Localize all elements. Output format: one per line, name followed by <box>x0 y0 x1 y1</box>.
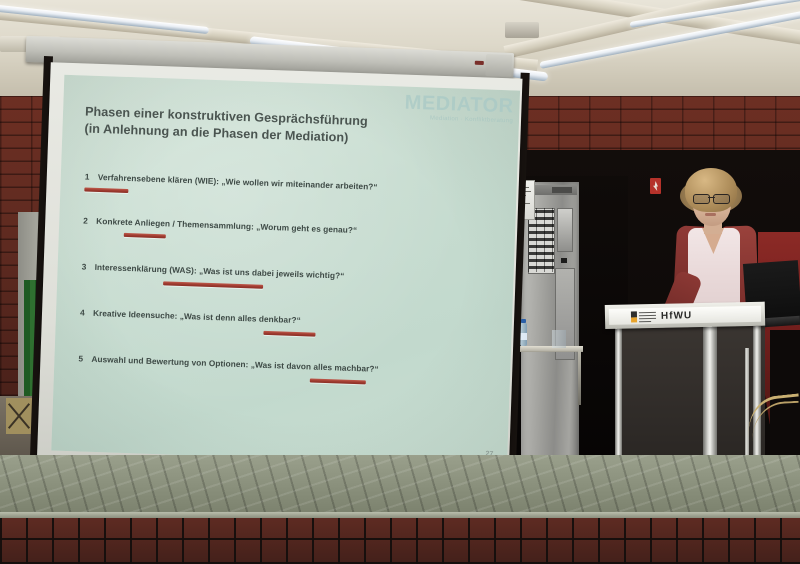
bullet-underline-bar <box>163 281 263 288</box>
mouth <box>705 213 716 216</box>
drinking-glasses <box>552 330 566 348</box>
bullet-number: 1 <box>85 172 98 182</box>
slide-bullet: 5Auswahl und Bewertung von Optionen: „Wa… <box>78 353 498 378</box>
bullet-text: Kreative Ideensuche: „Was ist denn alles… <box>93 308 301 325</box>
bullet-text: Auswahl und Bewertung von Optionen: „Was… <box>91 354 379 374</box>
slide-bullet: 4Kreative Ideensuche: „Was ist denn alle… <box>80 307 500 332</box>
bullet-text: Verfahrensebene klären (WIE): „Wie wolle… <box>98 172 378 192</box>
vending-display <box>552 187 572 193</box>
logo-wordmark: MEDIATOR <box>404 93 513 117</box>
bullet-number: 4 <box>80 307 93 317</box>
bullet-number: 5 <box>78 353 91 363</box>
bullet-number: 3 <box>82 261 95 271</box>
bullet-underline-bar <box>124 233 166 238</box>
hfwu-logo-icon <box>631 310 657 322</box>
wall-marker <box>6 398 32 434</box>
water-bottle <box>520 323 527 346</box>
hair <box>685 168 737 212</box>
presentation-photo: MEDIATOR Mediation · Konfliktberatung Ph… <box>0 0 800 564</box>
screen-surface: MEDIATOR Mediation · Konfliktberatung Ph… <box>36 62 523 510</box>
projected-slide: MEDIATOR Mediation · Konfliktberatung Ph… <box>51 75 520 467</box>
eyeglasses-icon <box>693 194 730 202</box>
lectern-sign-text: HfWU <box>661 310 692 322</box>
table-leg <box>578 351 581 405</box>
screen-housing-indicator <box>475 61 484 65</box>
stage-floor-tiles <box>0 455 800 517</box>
bullet-underline-bar <box>310 378 366 384</box>
vending-coin-slot[interactable] <box>557 208 573 252</box>
slide-bullet: 3Interessenklärung (WAS): „Was ist uns d… <box>82 261 502 286</box>
lectern-sign: HfWU <box>609 306 761 325</box>
bullet-underline-bar <box>84 187 128 193</box>
ceiling-fixture-box <box>505 22 539 38</box>
stage-tile-face <box>0 518 800 564</box>
slide-title: Phasen einer konstruktiven Gesprächsführ… <box>84 103 445 150</box>
slide-bullet: 1Verfahrensebene klären (WIE): „Wie woll… <box>85 172 505 197</box>
vending-machine[interactable] <box>521 182 579 464</box>
lectern-top: HfWU <box>605 302 765 329</box>
bullet-underline-bar <box>263 331 315 337</box>
bullet-text: Interessenklärung (WAS): „Was ist uns da… <box>94 262 344 281</box>
bullet-text: Konkrete Anliegen / Themensammlung: „Wor… <box>96 216 357 235</box>
vending-coin-return-icon[interactable] <box>561 258 567 263</box>
bullet-number: 2 <box>83 215 96 225</box>
